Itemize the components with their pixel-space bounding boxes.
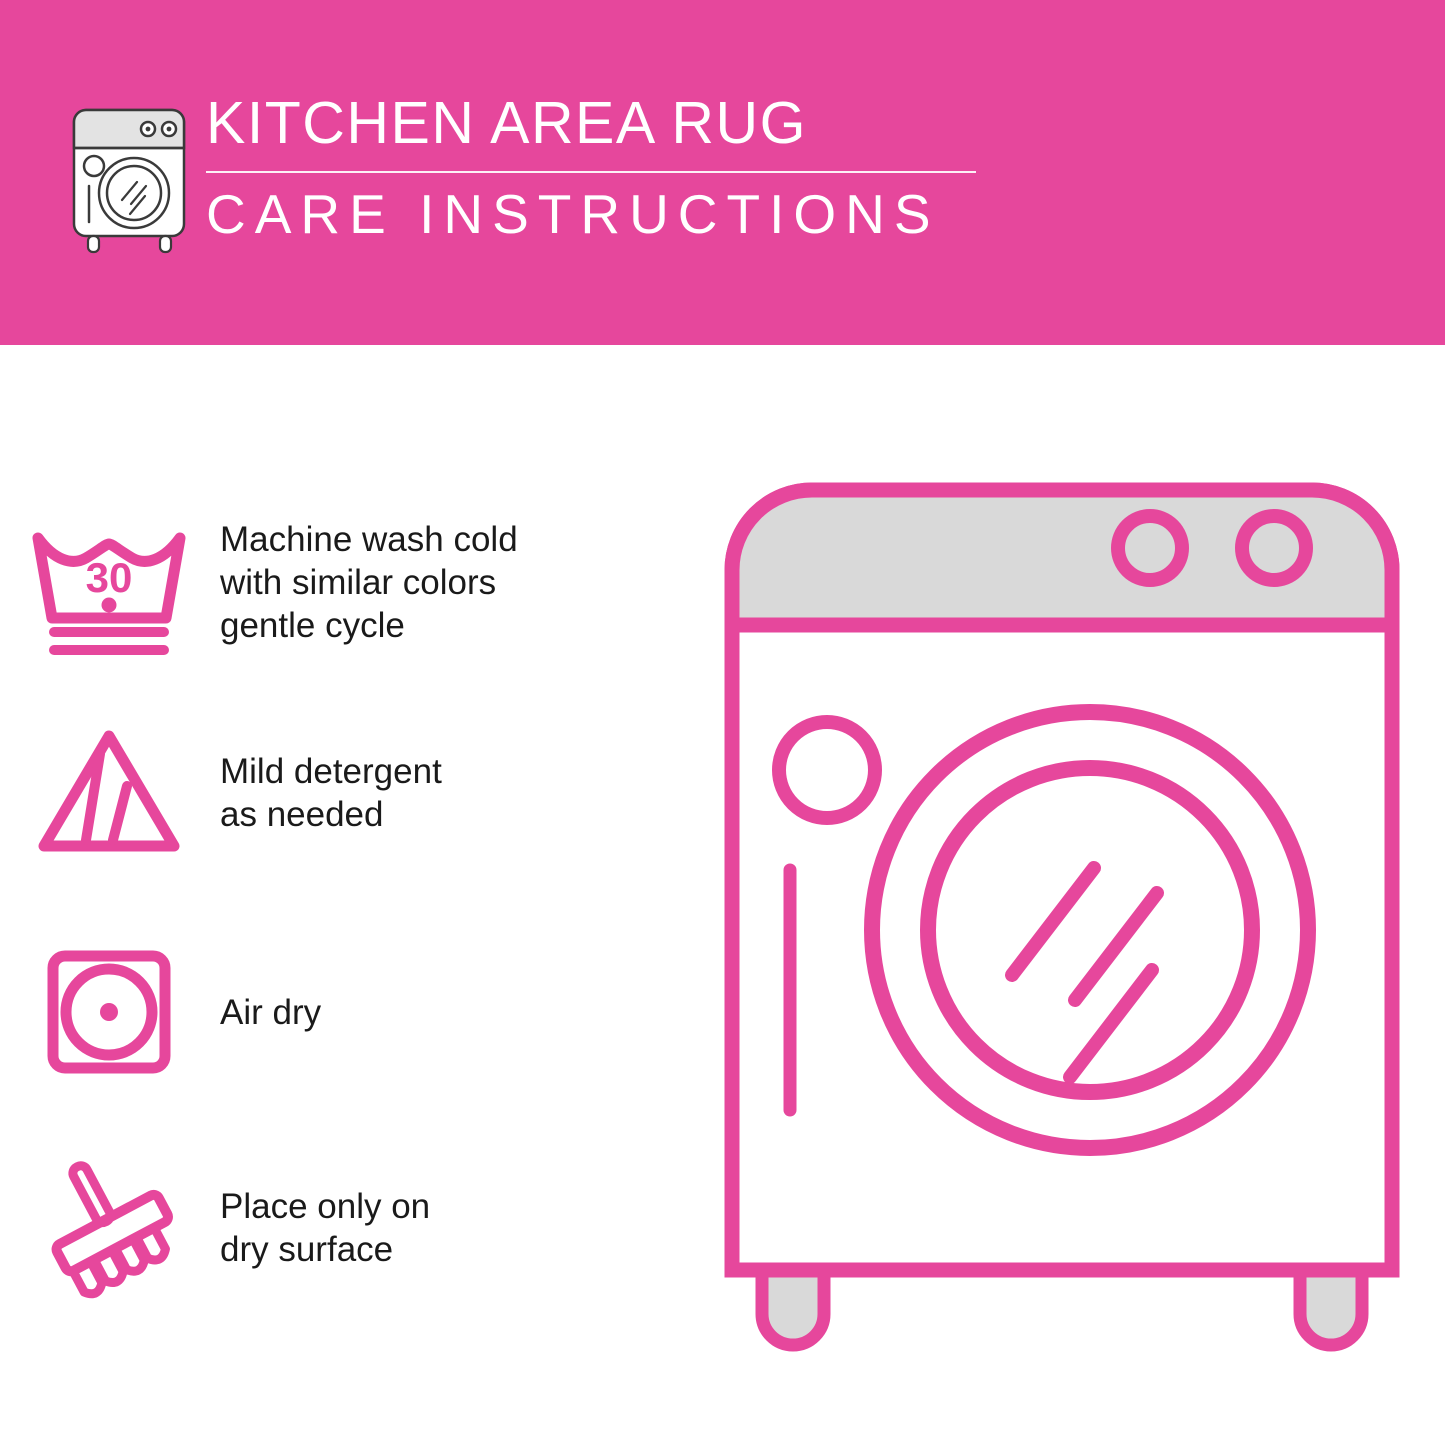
- header-text-block: KITCHEN AREA RUG CARE INSTRUCTIONS: [206, 88, 996, 247]
- care-item-dry-surface: Place only on dry surface: [0, 1140, 660, 1315]
- page-title: KITCHEN AREA RUG: [206, 88, 996, 158]
- care-item-mild-detergent: Mild detergent as needed: [0, 705, 660, 880]
- tumble-dry-square-icon: [0, 925, 200, 1100]
- title-divider: [206, 171, 976, 173]
- care-item-label: Place only on dry surface: [200, 1185, 430, 1271]
- care-label-line: with similar colors: [220, 561, 518, 604]
- care-item-machine-wash: 30 Machine wash cold with similar colors…: [0, 495, 660, 670]
- care-label-line: gentle cycle: [220, 604, 518, 647]
- care-instruction-list: 30 Machine wash cold with similar colors…: [0, 345, 660, 1445]
- wash-tub-30-gentle-icon: 30: [0, 495, 200, 670]
- page-header: KITCHEN AREA RUG CARE INSTRUCTIONS: [0, 0, 1445, 345]
- care-item-label: Mild detergent as needed: [200, 750, 442, 836]
- care-label-line: Air dry: [220, 991, 321, 1034]
- care-label-line: Machine wash cold: [220, 518, 518, 561]
- page-subtitle: CARE INSTRUCTIONS: [206, 181, 996, 247]
- care-label-line: as needed: [220, 793, 442, 836]
- care-item-label: Air dry: [200, 991, 321, 1034]
- broom-icon: [0, 1140, 200, 1315]
- bleach-triangle-icon: [0, 705, 200, 880]
- care-label-line: Place only on: [220, 1185, 430, 1228]
- care-item-label: Machine wash cold with similar colors ge…: [200, 518, 518, 647]
- washing-machine-icon: [68, 104, 190, 254]
- care-label-line: Mild detergent: [220, 750, 442, 793]
- svg-text:30: 30: [86, 554, 133, 601]
- care-label-line: dry surface: [220, 1228, 430, 1271]
- care-item-air-dry: Air dry: [0, 925, 660, 1100]
- washing-machine-illustration: [712, 470, 1412, 1370]
